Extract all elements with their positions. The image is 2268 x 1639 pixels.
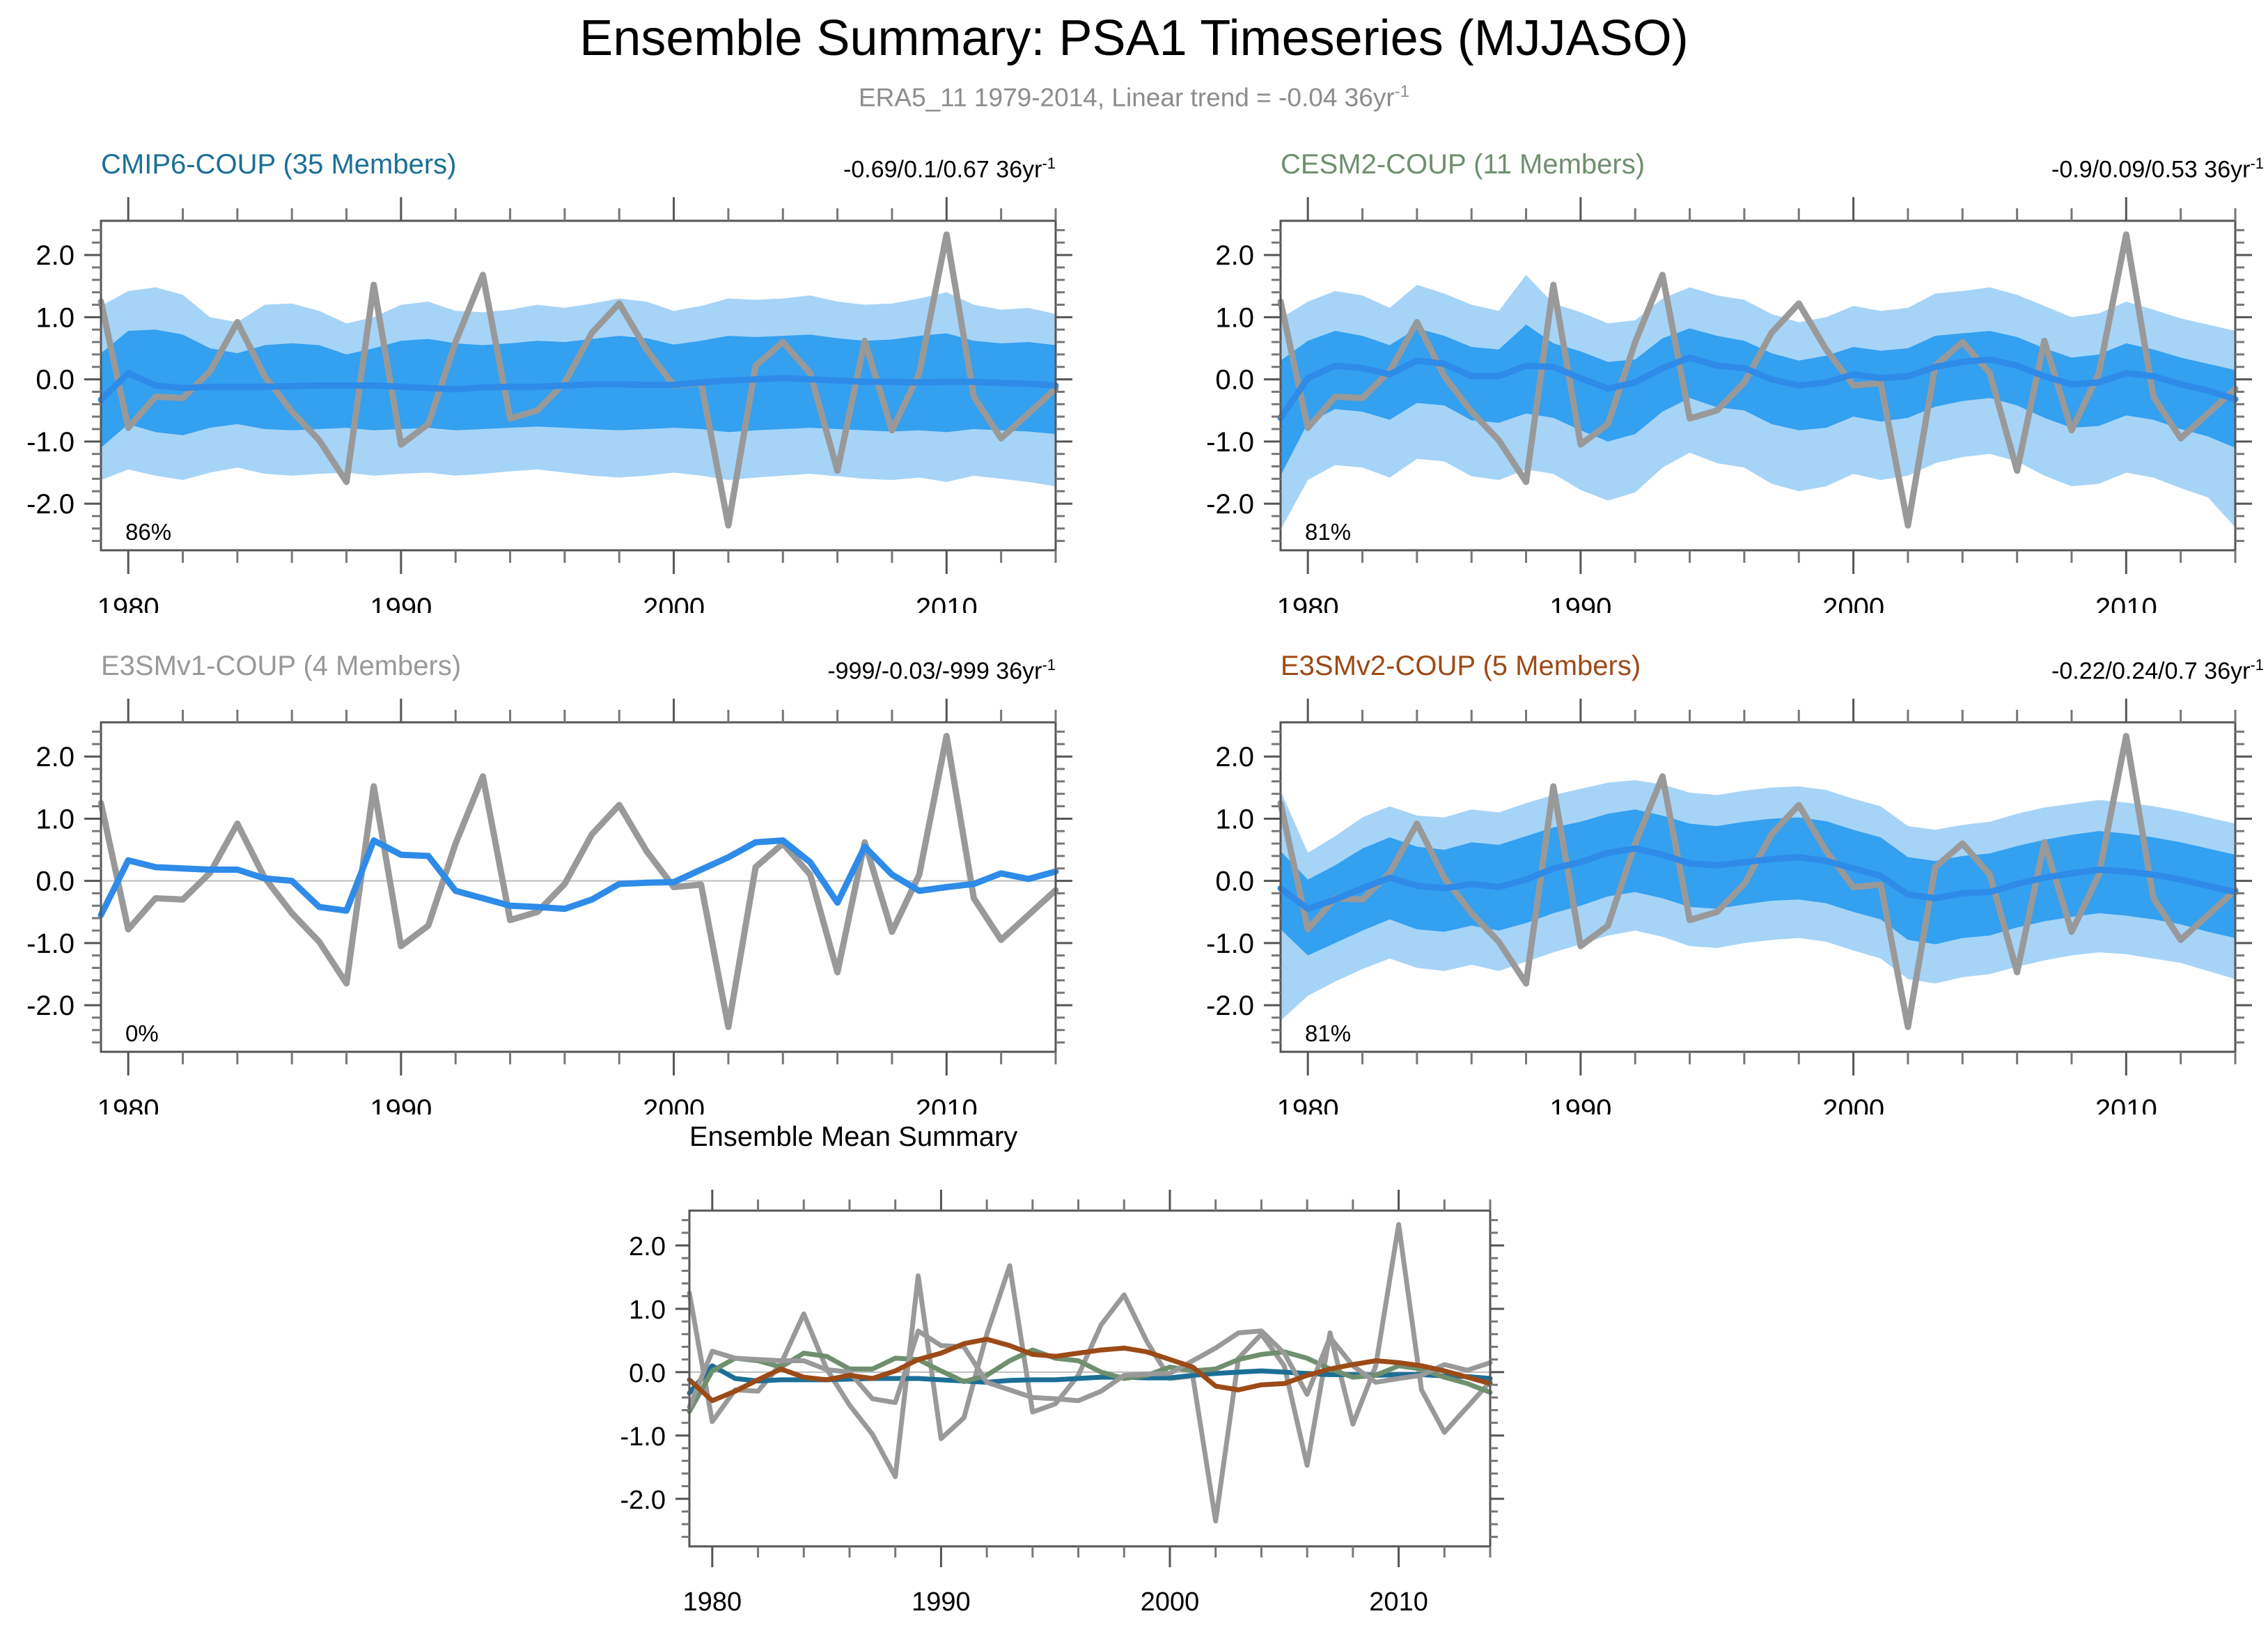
svg-text:0.0: 0.0 bbox=[1215, 867, 1254, 897]
svg-text:-1.0: -1.0 bbox=[26, 929, 75, 959]
svg-text:-2.0: -2.0 bbox=[1206, 489, 1254, 520]
subtitle-exponent: -1 bbox=[1395, 82, 1409, 101]
svg-text:1990: 1990 bbox=[1549, 1094, 1611, 1114]
svg-text:1.0: 1.0 bbox=[36, 302, 75, 333]
svg-text:1.0: 1.0 bbox=[36, 804, 75, 834]
svg-text:1980: 1980 bbox=[97, 593, 159, 613]
svg-text:-2.0: -2.0 bbox=[620, 1486, 666, 1515]
svg-text:2000: 2000 bbox=[643, 593, 705, 613]
panel-trend-e3smv2: -0.22/0.24/0.7 36yr-1 bbox=[2051, 656, 2264, 685]
panel-trend-e3smv1: -999/-0.03/-999 36yr-1 bbox=[827, 656, 1056, 685]
panel-ensemble-mean-summary: Ensemble Mean Summary 2.01.00.0-1.0-2.01… bbox=[571, 1121, 1699, 1637]
trend-exponent: -1 bbox=[1042, 155, 1056, 172]
svg-text:2010: 2010 bbox=[2095, 593, 2157, 613]
page-title: Ensemble Summary: PSA1 Timeseries (MJJAS… bbox=[0, 10, 2268, 67]
panel-pct-e3smv1: 0% bbox=[125, 1020, 159, 1047]
panel-trend-cmip6: -0.69/0.1/0.67 36yr-1 bbox=[843, 155, 1056, 183]
svg-text:2.0: 2.0 bbox=[36, 742, 75, 772]
plot-ensemble-mean-summary: 2.01.00.0-1.0-2.01980199020002010 bbox=[571, 1121, 1699, 1637]
svg-text:-2.0: -2.0 bbox=[26, 489, 75, 520]
svg-text:1990: 1990 bbox=[912, 1587, 971, 1617]
svg-text:2000: 2000 bbox=[643, 1094, 705, 1114]
trend-value: -0.9/0.09/0.53 36yr bbox=[2051, 156, 2250, 182]
panel-e3smv1: E3SMv1-COUP (4 Members) -999/-0.03/-999 … bbox=[0, 641, 1114, 1114]
panel-title-e3smv1: E3SMv1-COUP (4 Members) bbox=[101, 651, 461, 682]
panel-pct-e3smv2: 81% bbox=[1305, 1020, 1351, 1047]
trend-exponent: -1 bbox=[1042, 656, 1056, 674]
svg-text:1980: 1980 bbox=[1277, 593, 1339, 613]
svg-text:1990: 1990 bbox=[370, 593, 432, 613]
trend-exponent: -1 bbox=[2250, 656, 2264, 674]
panel-title-cesm2: CESM2-COUP (11 Members) bbox=[1281, 149, 1645, 180]
trend-value: -0.69/0.1/0.67 36yr bbox=[843, 156, 1042, 182]
svg-text:1980: 1980 bbox=[683, 1587, 742, 1617]
panel-pct-cesm2: 81% bbox=[1305, 519, 1351, 545]
svg-text:0.0: 0.0 bbox=[36, 365, 75, 396]
plot-e3smv1: 2.01.00.0-1.0-2.01980199020002010 bbox=[0, 641, 1114, 1114]
panel-cmip6: CMIP6-COUP (35 Members) -0.69/0.1/0.67 3… bbox=[0, 139, 1114, 613]
svg-text:-2.0: -2.0 bbox=[26, 991, 75, 1021]
trend-exponent: -1 bbox=[2250, 155, 2264, 172]
panel-title-cmip6: CMIP6-COUP (35 Members) bbox=[101, 149, 456, 180]
svg-text:2010: 2010 bbox=[916, 1094, 978, 1114]
svg-text:1980: 1980 bbox=[1277, 1094, 1339, 1114]
svg-text:2010: 2010 bbox=[916, 593, 978, 613]
svg-text:1990: 1990 bbox=[1549, 593, 1611, 613]
trend-value: -0.22/0.24/0.7 36yr bbox=[2051, 658, 2250, 684]
panel-pct-cmip6: 86% bbox=[125, 519, 171, 545]
svg-text:2.0: 2.0 bbox=[1215, 240, 1254, 271]
svg-text:2010: 2010 bbox=[1369, 1587, 1428, 1617]
svg-text:-1.0: -1.0 bbox=[1206, 427, 1254, 458]
svg-text:0.0: 0.0 bbox=[629, 1359, 666, 1388]
svg-text:0.0: 0.0 bbox=[1215, 365, 1254, 396]
svg-text:0.0: 0.0 bbox=[36, 867, 75, 897]
svg-text:1.0: 1.0 bbox=[1215, 804, 1254, 834]
panel-title-summary: Ensemble Mean Summary bbox=[689, 1121, 1017, 1153]
svg-text:1.0: 1.0 bbox=[1215, 302, 1254, 333]
figure-subtitle: ERA5_11 1979-2014, Linear trend = -0.04 … bbox=[0, 82, 2268, 112]
svg-text:2.0: 2.0 bbox=[36, 240, 75, 271]
svg-text:-1.0: -1.0 bbox=[620, 1422, 666, 1452]
svg-text:2.0: 2.0 bbox=[1215, 742, 1254, 772]
svg-text:-2.0: -2.0 bbox=[1206, 991, 1254, 1021]
svg-text:1.0: 1.0 bbox=[629, 1296, 666, 1325]
panel-e3smv2: E3SMv2-COUP (5 Members) -0.22/0.24/0.7 3… bbox=[1180, 641, 2268, 1114]
panel-title-e3smv2: E3SMv2-COUP (5 Members) bbox=[1281, 651, 1641, 682]
figure-canvas: Ensemble Summary: PSA1 Timeseries (MJJAS… bbox=[0, 0, 2268, 1639]
svg-text:2000: 2000 bbox=[1822, 593, 1884, 613]
svg-text:2000: 2000 bbox=[1822, 1094, 1884, 1114]
svg-text:-1.0: -1.0 bbox=[26, 427, 75, 458]
subtitle-text: ERA5_11 1979-2014, Linear trend = -0.04 … bbox=[859, 83, 1395, 111]
svg-text:2.0: 2.0 bbox=[629, 1232, 666, 1261]
svg-text:1980: 1980 bbox=[97, 1094, 159, 1114]
svg-text:1990: 1990 bbox=[370, 1094, 432, 1114]
trend-value: -999/-0.03/-999 36yr bbox=[827, 658, 1042, 684]
svg-text:-1.0: -1.0 bbox=[1206, 929, 1254, 959]
panel-cesm2: CESM2-COUP (11 Members) -0.9/0.09/0.53 3… bbox=[1180, 139, 2268, 613]
panel-trend-cesm2: -0.9/0.09/0.53 36yr-1 bbox=[2051, 155, 2264, 183]
svg-text:2000: 2000 bbox=[1141, 1587, 1200, 1617]
svg-text:2010: 2010 bbox=[2095, 1094, 2157, 1114]
